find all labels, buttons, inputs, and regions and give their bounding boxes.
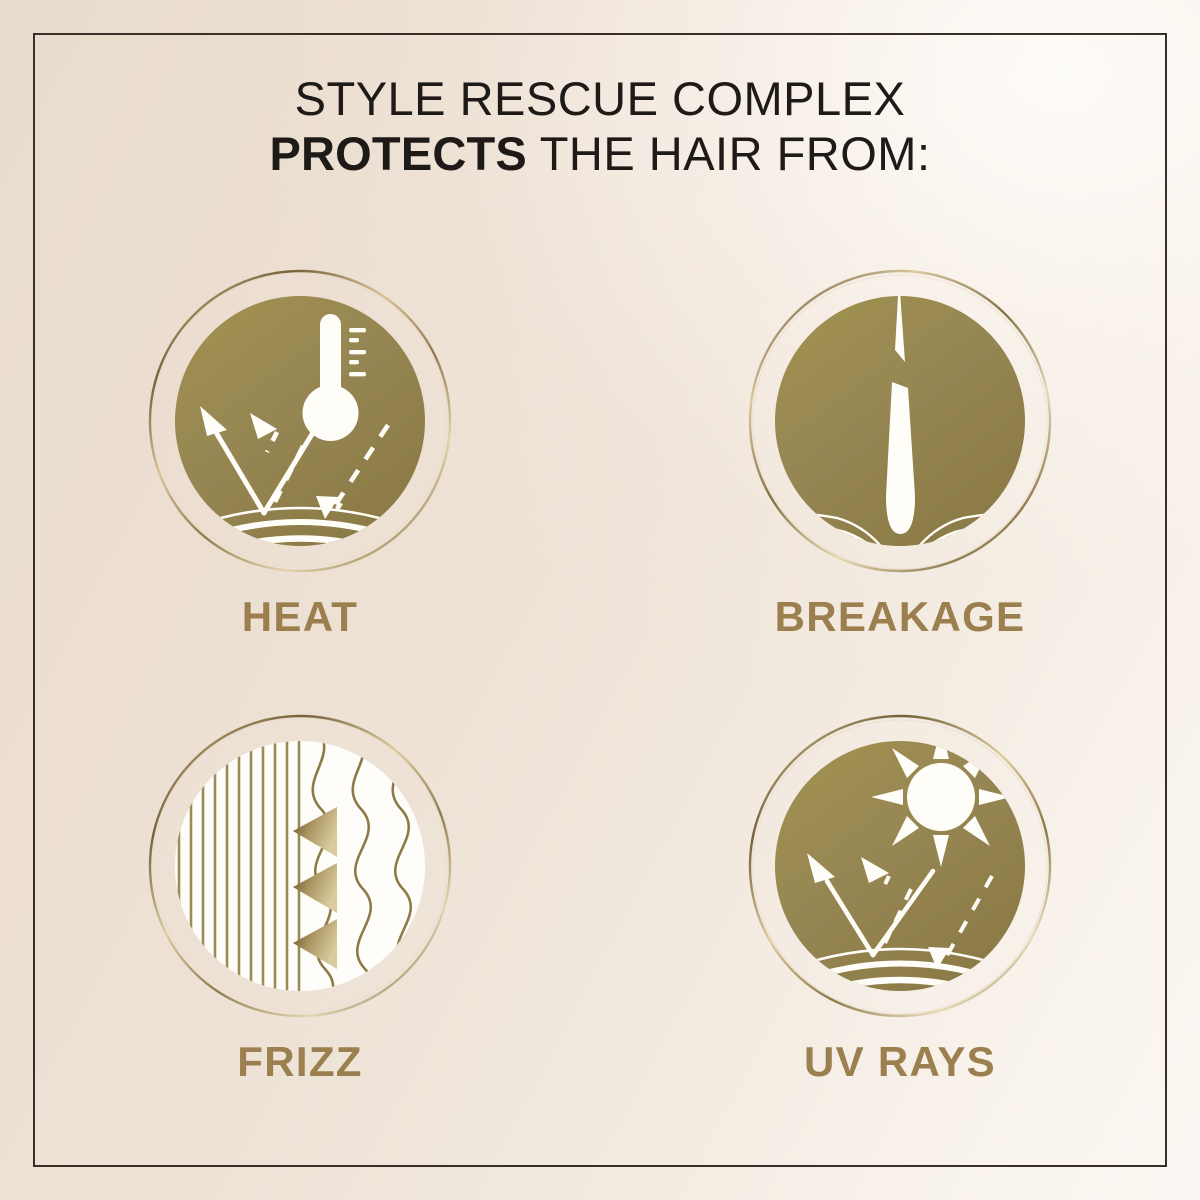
frizz-badge bbox=[145, 711, 455, 1021]
sun-uv-shield-icon bbox=[745, 711, 1055, 1021]
benefit-item-frizz[interactable]: FRIZZ bbox=[0, 703, 600, 1143]
benefit-label-breakage: BREAKAGE bbox=[600, 593, 1200, 641]
straight-vs-wavy-hair-icon bbox=[145, 711, 455, 1021]
heat-badge bbox=[145, 266, 455, 576]
benefit-item-breakage[interactable]: BREAKAGE bbox=[600, 258, 1200, 698]
headline-line-2-rest: THE HAIR FROM: bbox=[527, 127, 931, 180]
thermometer-heat-shield-icon bbox=[145, 266, 455, 576]
broken-hair-strand-icon bbox=[745, 266, 1055, 576]
page-title: STYLE RESCUE COMPLEX PROTECTS THE HAIR F… bbox=[0, 72, 1200, 181]
breakage-badge bbox=[745, 266, 1055, 576]
headline-emphasis: PROTECTS bbox=[269, 127, 527, 180]
benefit-label-frizz: FRIZZ bbox=[0, 1038, 600, 1086]
headline-line-1: STYLE RESCUE COMPLEX bbox=[0, 72, 1200, 127]
benefit-label-heat: HEAT bbox=[0, 593, 600, 641]
headline-line-2: PROTECTS THE HAIR FROM: bbox=[0, 127, 1200, 182]
benefit-item-heat[interactable]: HEAT bbox=[0, 258, 600, 698]
promo-panel: STYLE RESCUE COMPLEX PROTECTS THE HAIR F… bbox=[0, 0, 1200, 1200]
benefit-grid: HEAT bbox=[0, 258, 1200, 1138]
benefit-label-uv-rays: UV RAYS bbox=[600, 1038, 1200, 1086]
benefit-item-uv-rays[interactable]: UV RAYS bbox=[600, 703, 1200, 1143]
uv-rays-badge bbox=[745, 711, 1055, 1021]
